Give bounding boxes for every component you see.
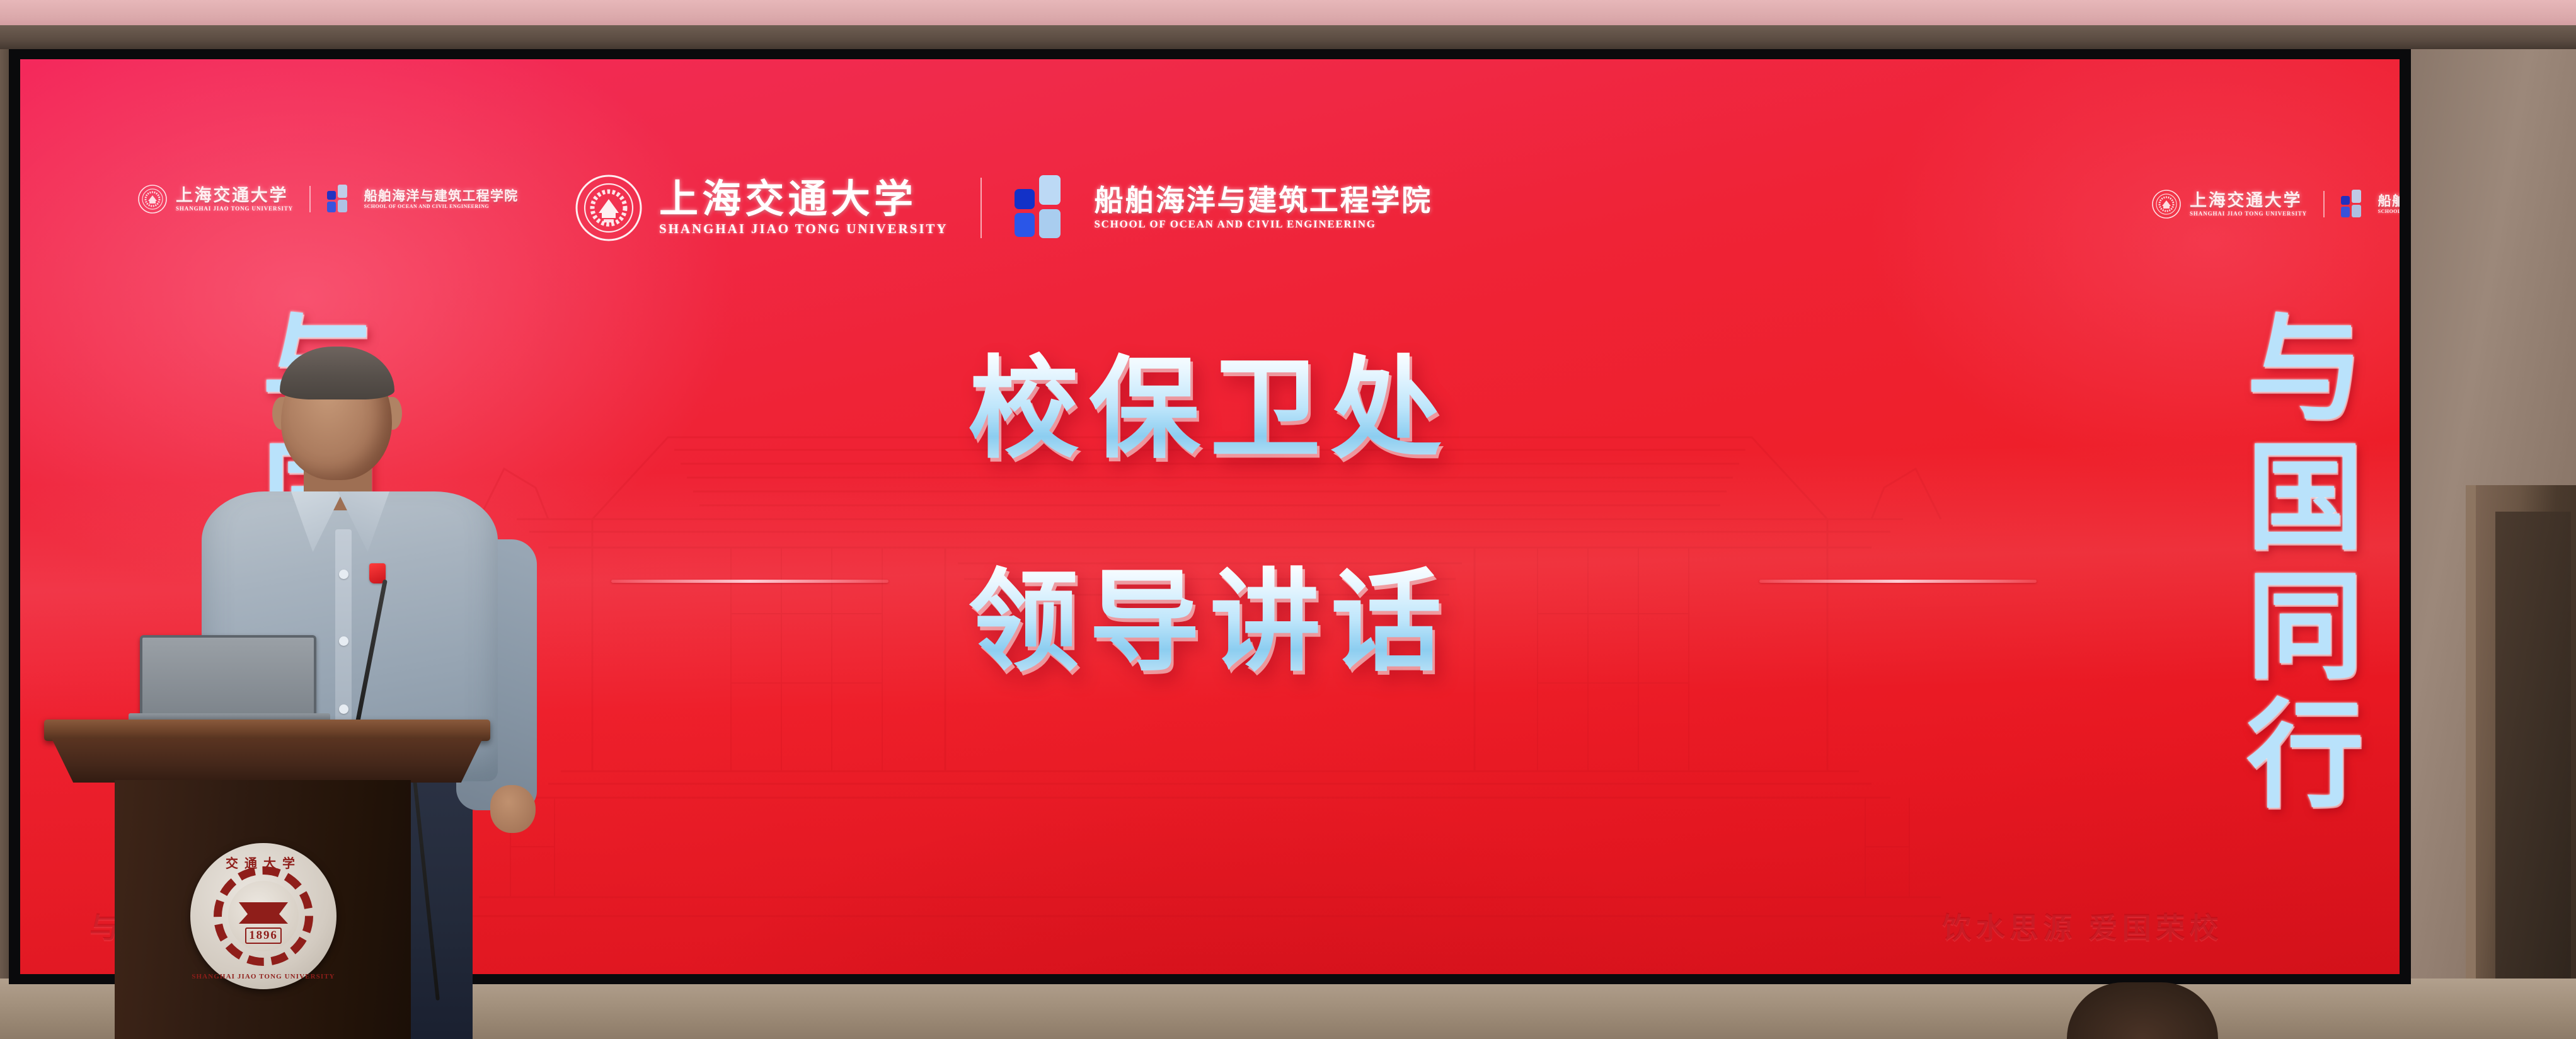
divider-rule-left xyxy=(611,580,888,583)
soce-mark-icon xyxy=(2341,190,2364,219)
soce-mark-icon xyxy=(327,185,350,214)
laptop-icon xyxy=(140,635,316,716)
conference-room: 上海交通大学 Shanghai Jiao Tong University 船舶海… xyxy=(0,0,2576,1039)
logo-lockup-topleft: 上海交通大学 Shanghai Jiao Tong University 船舶海… xyxy=(137,184,518,214)
sjtu-seal-icon xyxy=(575,174,643,242)
school-name-en: School of Ocean and Civil Engineering xyxy=(2378,209,2400,215)
university-name-en: Shanghai Jiao Tong University xyxy=(659,221,948,237)
vertical-divider-icon xyxy=(309,186,311,212)
university-text-block: 上海交通大学 Shanghai Jiao Tong University xyxy=(659,179,948,237)
podium-lip xyxy=(52,738,483,783)
door-panel xyxy=(2495,512,2571,1039)
school-text-block: 船舶海洋与建筑工程学院 School of Ocean and Civil En… xyxy=(1094,185,1432,231)
school-name-en: School of Ocean and Civil Engineering xyxy=(1094,217,1432,231)
university-name-en: Shanghai Jiao Tong University xyxy=(176,205,293,212)
sjtu-seal-icon xyxy=(2151,189,2182,219)
university-name-cn: 上海交通大学 xyxy=(176,187,293,205)
school-name-cn: 船舶海洋与建筑工程学院 xyxy=(1094,185,1432,217)
gate-watermark-icon xyxy=(403,330,2016,967)
page-title-line-2: 领导讲话 xyxy=(968,561,1451,684)
sjtu-seal-icon xyxy=(137,184,168,214)
crest-gear-ring: 1896 xyxy=(214,866,313,966)
university-text-block: 上海交通大学 Shanghai Jiao Tong University xyxy=(176,187,293,212)
podium-top-surface xyxy=(44,720,490,741)
shirt-button xyxy=(339,636,348,646)
divider-rule-right xyxy=(1759,580,2037,583)
vertical-divider-icon xyxy=(980,178,982,238)
logo-lockup-center: 上海交通大学 Shanghai Jiao Tong University 船舶海… xyxy=(575,174,1432,242)
watermark-text-right: 饮水思源 爱国荣校 xyxy=(1942,905,2223,946)
sjtu-crest-icon: 交通大学 1896 SHANGHAI JIAO TONG UNIVERSITY xyxy=(190,843,336,989)
speaker-and-podium: 交通大学 1896 SHANGHAI JIAO TONG UNIVERSITY xyxy=(126,350,643,1039)
school-name-cn: 船舶海洋与建筑工程学院 xyxy=(2378,193,2400,209)
university-name-cn: 上海交通大学 xyxy=(659,179,948,221)
school-name-cn: 船舶海洋与建筑工程学院 xyxy=(364,188,519,204)
page-title-line-1: 校保卫处 xyxy=(968,348,1451,471)
vertical-divider-icon xyxy=(2323,191,2325,217)
shirt-button xyxy=(339,704,348,714)
school-name-en: School of Ocean and Civil Engineering xyxy=(364,204,519,210)
title-line-1-wrap: 校保卫处 xyxy=(517,348,1903,471)
crest-text-en: SHANGHAI JIAO TONG UNIVERSITY xyxy=(190,973,336,980)
calligraphy-right: 与国同行 xyxy=(2231,306,2355,822)
left-wall xyxy=(0,49,9,1039)
university-name-cn: 上海交通大学 xyxy=(2190,192,2307,210)
speaker-hand xyxy=(490,785,536,833)
ceiling-beam xyxy=(0,25,2576,52)
crest-year: 1896 xyxy=(245,927,282,944)
speaker-hair xyxy=(280,347,394,399)
university-text-block: 上海交通大学 Shanghai Jiao Tong University xyxy=(2190,192,2307,217)
school-text-block: 船舶海洋与建筑工程学院 School of Ocean and Civil En… xyxy=(2378,193,2400,215)
podium-body: 交通大学 1896 SHANGHAI JIAO TONG UNIVERSITY xyxy=(115,780,411,1039)
university-name-en: Shanghai Jiao Tong University xyxy=(2190,210,2307,217)
soce-mark-icon xyxy=(1015,175,1065,241)
logo-lockup-topright: 上海交通大学 Shanghai Jiao Tong University 船舶海… xyxy=(2151,189,2400,219)
shirt-button xyxy=(339,570,348,579)
school-text-block: 船舶海洋与建筑工程学院 School of Ocean and Civil En… xyxy=(364,188,519,210)
